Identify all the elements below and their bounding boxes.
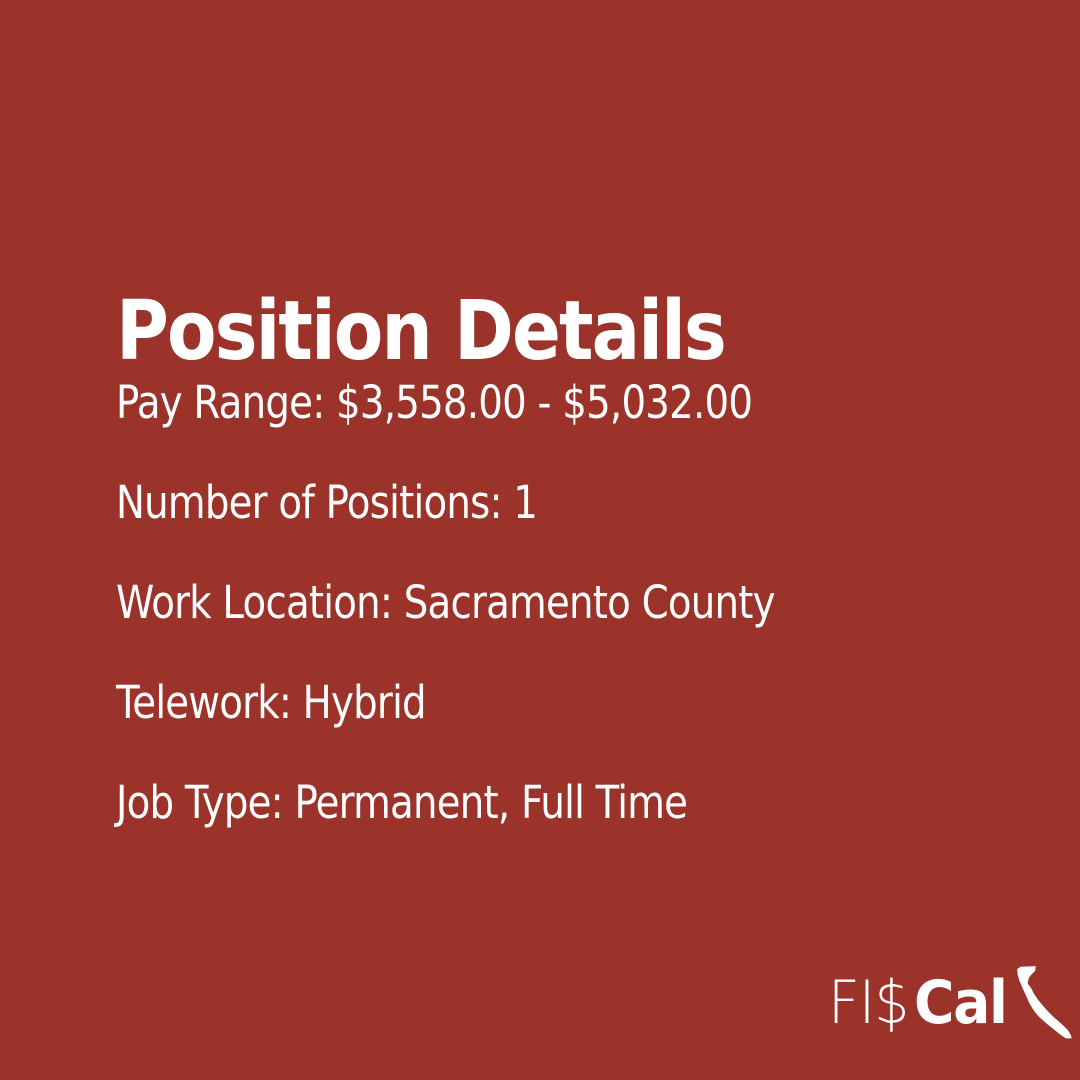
social-card: Position Details Pay Range: $3,558.00 - … <box>0 0 1080 1080</box>
detail-text-work-location: Work Location: Sacramento County <box>116 577 775 629</box>
detail-row-work-location: Work Location: Sacramento County <box>116 577 1016 677</box>
fiscal-logo: FI$ Cal <box>828 957 1074 1033</box>
california-state-outline-icon <box>1016 965 1074 1039</box>
detail-row-pay-range: Pay Range: $3,558.00 - $5,032.00 <box>116 377 1016 477</box>
detail-text-job-type: Job Type: Permanent, Full Time <box>116 777 687 829</box>
detail-text-telework: Telework: Hybrid <box>116 677 426 729</box>
fiscal-logo-text-bold: Cal <box>914 973 1007 1033</box>
detail-text-pay-range: Pay Range: $3,558.00 - $5,032.00 <box>116 377 752 429</box>
detail-row-job-type: Job Type: Permanent, Full Time <box>116 777 1016 877</box>
fiscal-logo-text-light: FI$ <box>828 973 908 1033</box>
page-title: Position Details <box>116 287 725 377</box>
position-details-list: Pay Range: $3,558.00 - $5,032.00 Number … <box>116 377 1016 877</box>
detail-row-number-of-positions: Number of Positions: 1 <box>116 477 1016 577</box>
detail-row-telework: Telework: Hybrid <box>116 677 1016 777</box>
detail-text-number-of-positions: Number of Positions: 1 <box>116 477 537 529</box>
